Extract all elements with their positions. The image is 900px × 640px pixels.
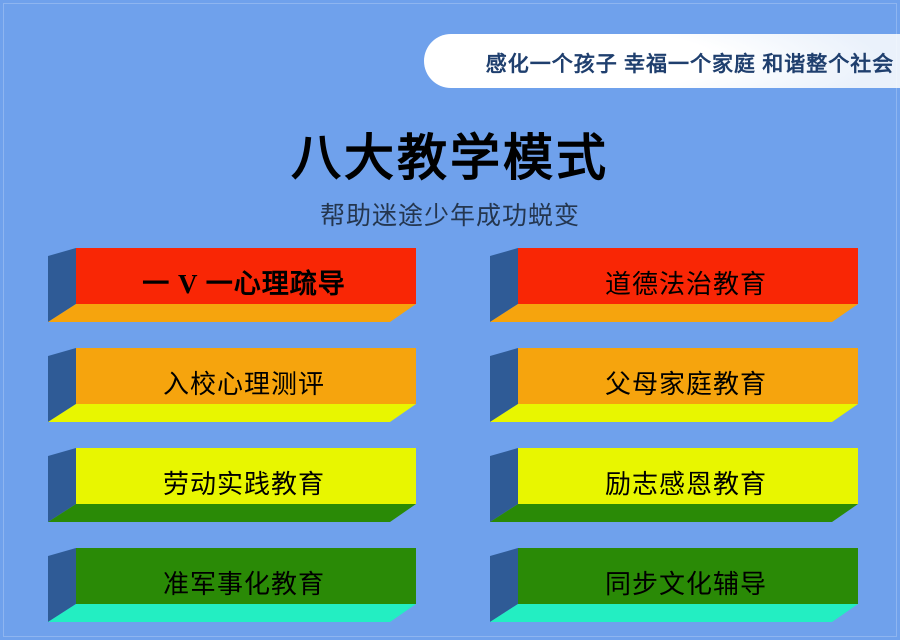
mode-bar-quasi-military-education[interactable]: 准军事化教育 bbox=[48, 548, 416, 636]
bar-3d-shape bbox=[490, 248, 858, 336]
bar-front-face bbox=[48, 504, 416, 522]
bar-3d-shape bbox=[490, 448, 858, 536]
bar-front-face bbox=[490, 504, 858, 522]
page-title: 八大教学模式 bbox=[0, 118, 900, 190]
mode-bar-inspiration-gratitude-education[interactable]: 励志感恩教育 bbox=[490, 448, 858, 536]
bar-top-face bbox=[76, 348, 416, 404]
mode-bar-parent-family-education[interactable]: 父母家庭教育 bbox=[490, 348, 858, 436]
bar-front-face bbox=[490, 604, 858, 622]
bar-3d-shape bbox=[48, 548, 416, 636]
mode-bar-moral-law-education[interactable]: 道德法治教育 bbox=[490, 248, 858, 336]
bar-top-face bbox=[518, 548, 858, 604]
page-subtitle: 帮助迷途少年成功蜕变 bbox=[0, 196, 900, 232]
bar-front-face bbox=[48, 404, 416, 422]
bar-top-face bbox=[76, 248, 416, 304]
bar-3d-shape bbox=[490, 348, 858, 436]
bar-front-face bbox=[48, 304, 416, 322]
bar-3d-shape bbox=[48, 348, 416, 436]
slide-canvas: 感化一个孩子 幸福一个家庭 和谐整个社会 八大教学模式 帮助迷途少年成功蜕变 一… bbox=[0, 0, 900, 640]
bar-front-face bbox=[48, 604, 416, 622]
bar-top-face bbox=[518, 448, 858, 504]
bar-3d-shape bbox=[490, 548, 858, 636]
mode-bar-synchronized-tutoring[interactable]: 同步文化辅导 bbox=[490, 548, 858, 636]
banner-slogan-text: 感化一个孩子 幸福一个家庭 和谐整个社会 bbox=[480, 48, 900, 78]
bar-3d-shape bbox=[48, 448, 416, 536]
bar-front-face bbox=[490, 304, 858, 322]
bar-front-face bbox=[490, 404, 858, 422]
bar-top-face bbox=[76, 448, 416, 504]
mode-bar-one-on-one-counseling[interactable]: 一 V 一心理疏导 bbox=[48, 248, 416, 336]
bar-3d-shape bbox=[48, 248, 416, 336]
mode-bar-labor-practice-education[interactable]: 劳动实践教育 bbox=[48, 448, 416, 536]
bar-top-face bbox=[518, 248, 858, 304]
mode-bar-entry-psych-assessment[interactable]: 入校心理测评 bbox=[48, 348, 416, 436]
bar-top-face bbox=[518, 348, 858, 404]
bar-top-face bbox=[76, 548, 416, 604]
